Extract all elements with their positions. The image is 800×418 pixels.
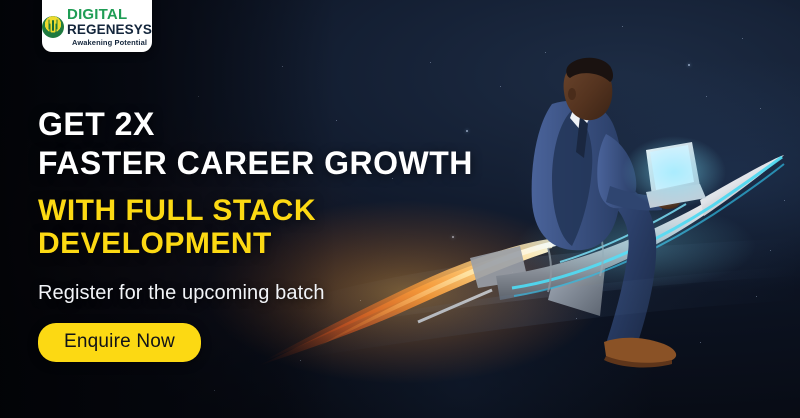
enquire-now-button[interactable]: Enquire Now [38, 323, 201, 362]
tree-emblem-icon [42, 16, 64, 38]
headline-line-3: WITH FULL STACK [38, 195, 508, 226]
logo-line-2: REGENESYS [67, 23, 152, 37]
headline-line-1: GET 2X [38, 108, 508, 141]
logo-line-1: DIGITAL [67, 7, 152, 22]
promo-banner: DIGITAL REGENESYS Awakening Potential GE… [0, 0, 800, 418]
headline-line-2: FASTER CAREER GROWTH [38, 147, 508, 180]
copy-block: GET 2X FASTER CAREER GROWTH WITH FULL ST… [38, 108, 508, 362]
headline-line-4: DEVELOPMENT [38, 228, 508, 259]
subheadline: Register for the upcoming batch [38, 282, 508, 305]
logo-inner: DIGITAL REGENESYS Awakening Potential [42, 7, 152, 46]
logo-wordmark: DIGITAL REGENESYS Awakening Potential [67, 7, 152, 46]
logo-badge[interactable]: DIGITAL REGENESYS Awakening Potential [42, 0, 152, 52]
logo-tagline: Awakening Potential [67, 39, 152, 47]
